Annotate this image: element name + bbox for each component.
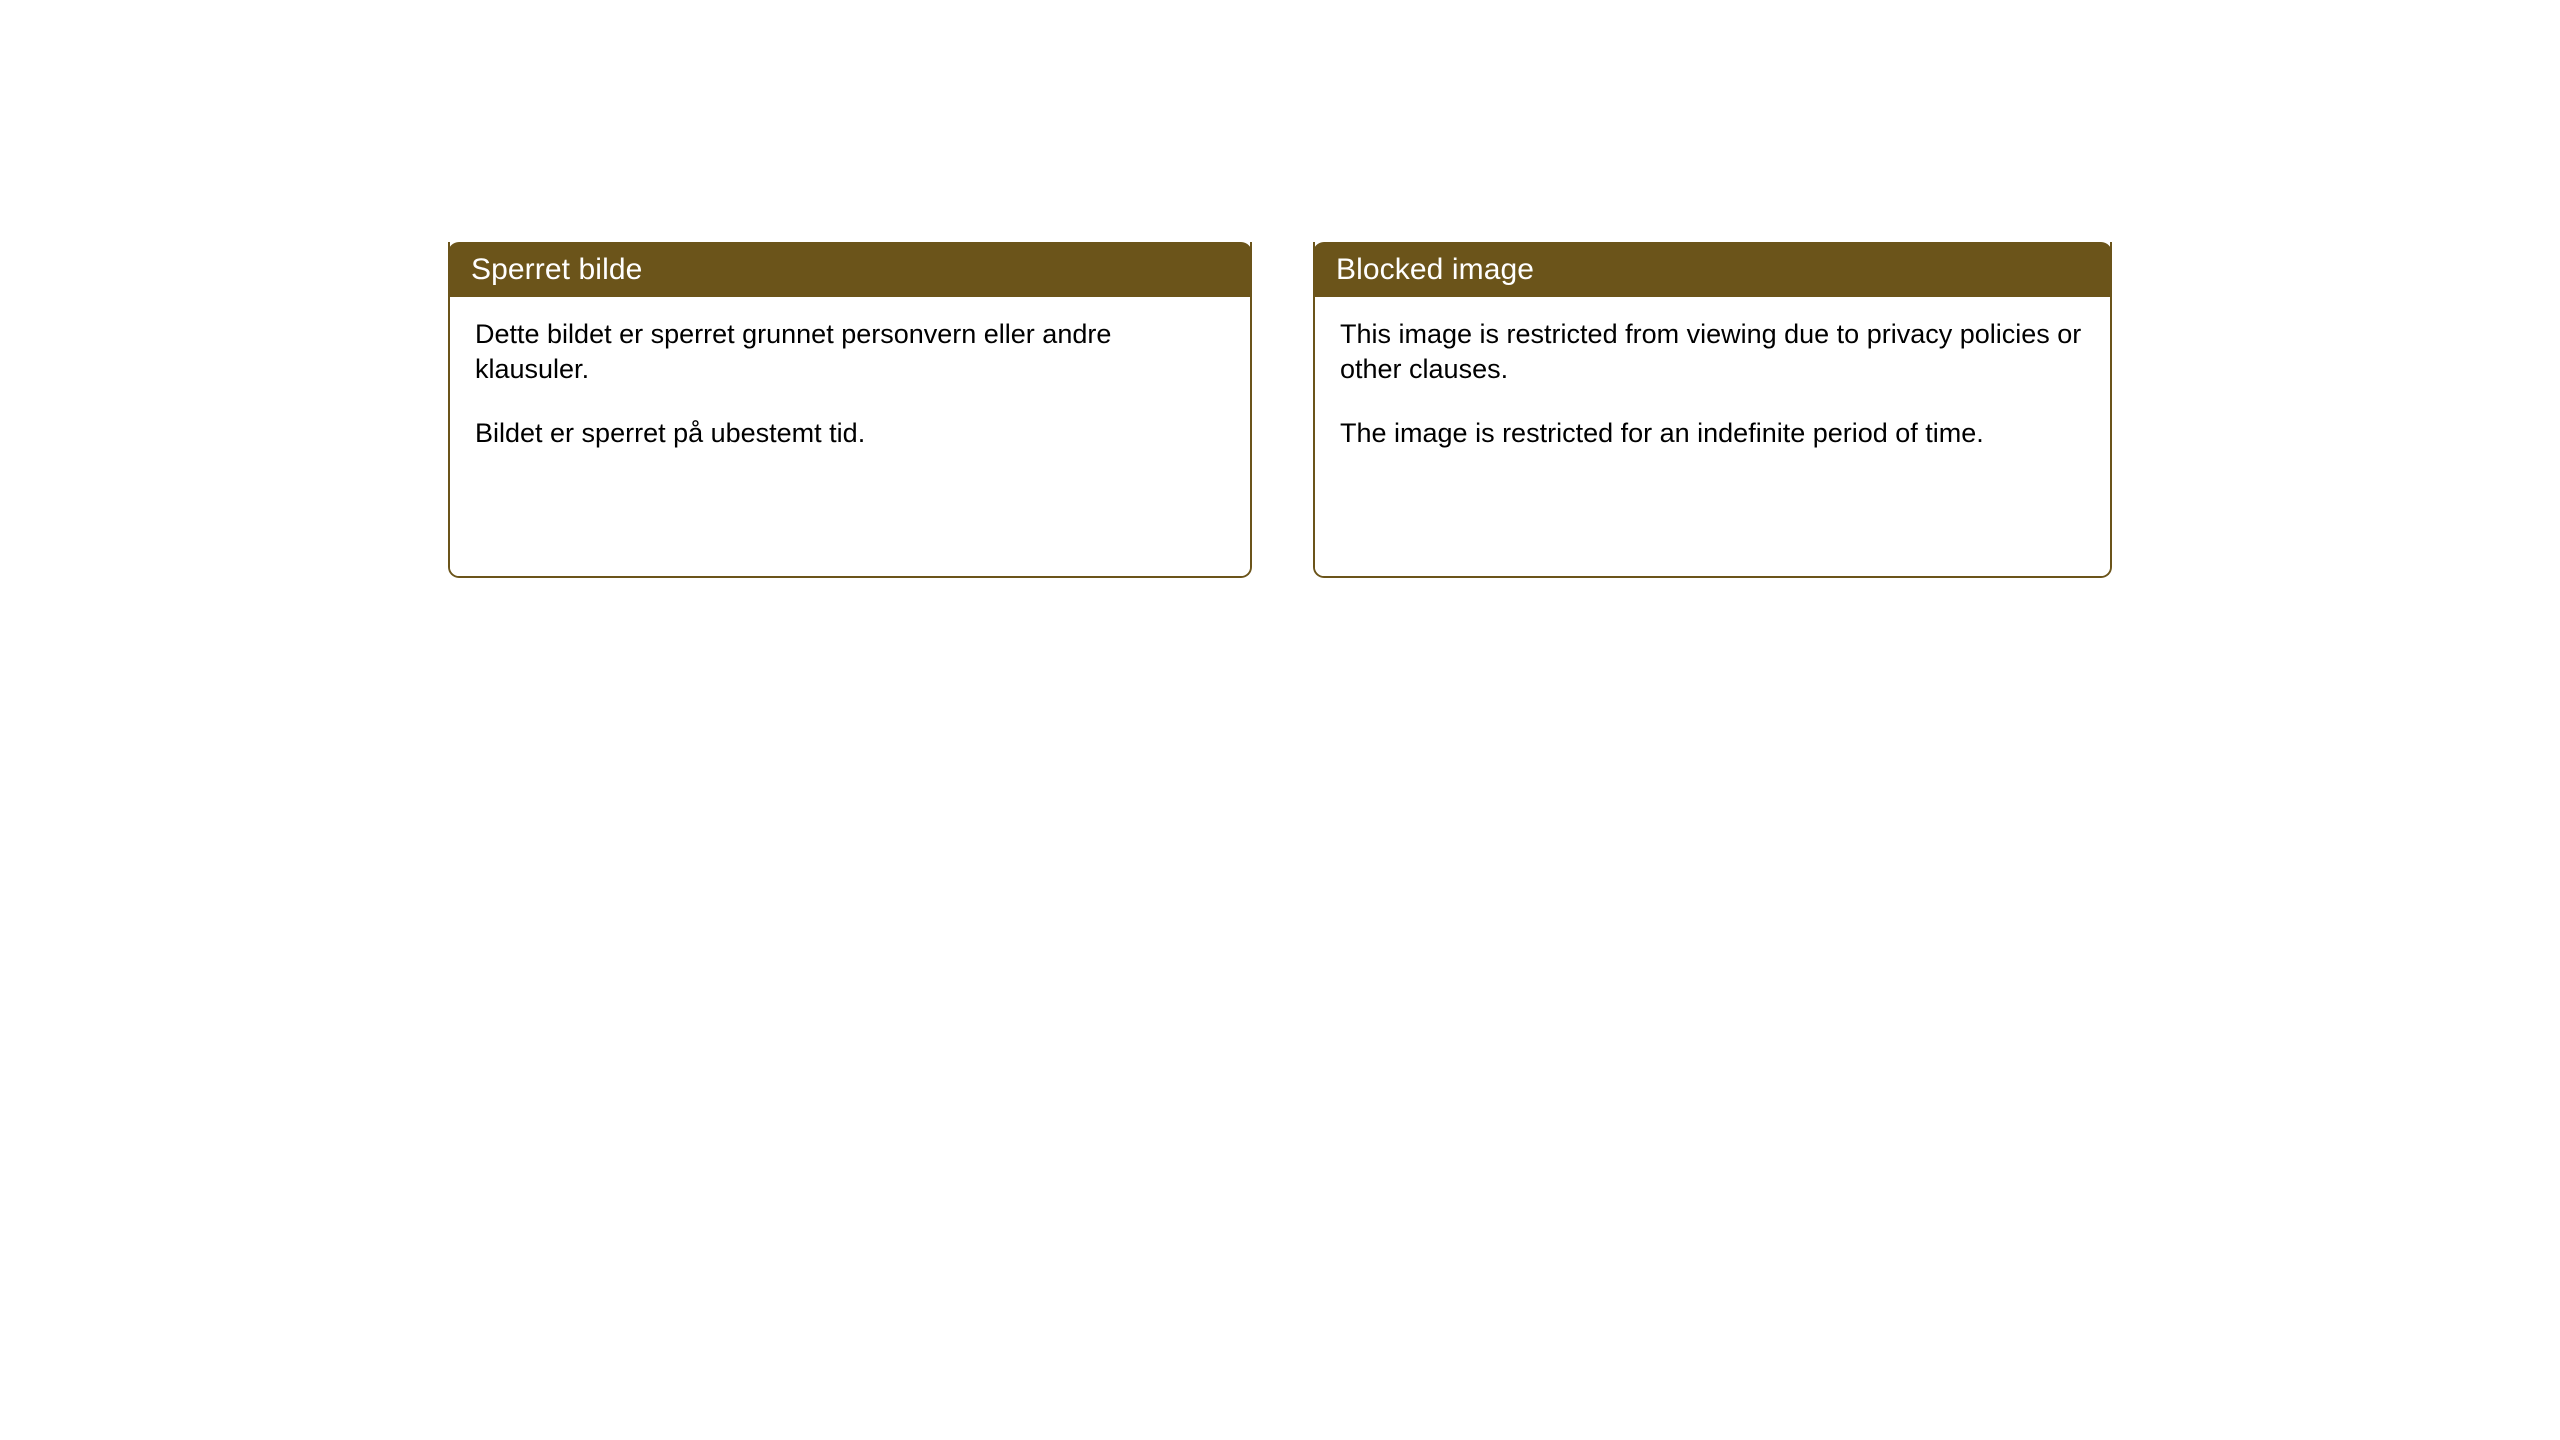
card-paragraph-privacy-notice-en: This image is restricted from viewing du… xyxy=(1340,317,2086,386)
card-paragraph-privacy-notice-no: Dette bildet er sperret grunnet personve… xyxy=(475,317,1226,386)
card-title-english: Blocked image xyxy=(1336,253,1534,286)
card-paragraph-duration-notice-en: The image is restricted for an indefinit… xyxy=(1340,416,2086,451)
blocked-image-card-norwegian: Sperret bilde Dette bildet er sperret gr… xyxy=(448,242,1252,578)
card-body-norwegian: Dette bildet er sperret grunnet personve… xyxy=(450,297,1250,576)
card-paragraph-duration-notice-no: Bildet er sperret på ubestemt tid. xyxy=(475,416,1226,451)
blocked-image-notice-group: Sperret bilde Dette bildet er sperret gr… xyxy=(448,242,2112,578)
card-body-english: This image is restricted from viewing du… xyxy=(1315,297,2110,576)
card-header-english: Blocked image xyxy=(1313,242,2112,297)
card-title-norwegian: Sperret bilde xyxy=(471,253,642,286)
card-header-norwegian: Sperret bilde xyxy=(448,242,1252,297)
blocked-image-card-english: Blocked image This image is restricted f… xyxy=(1313,242,2112,578)
